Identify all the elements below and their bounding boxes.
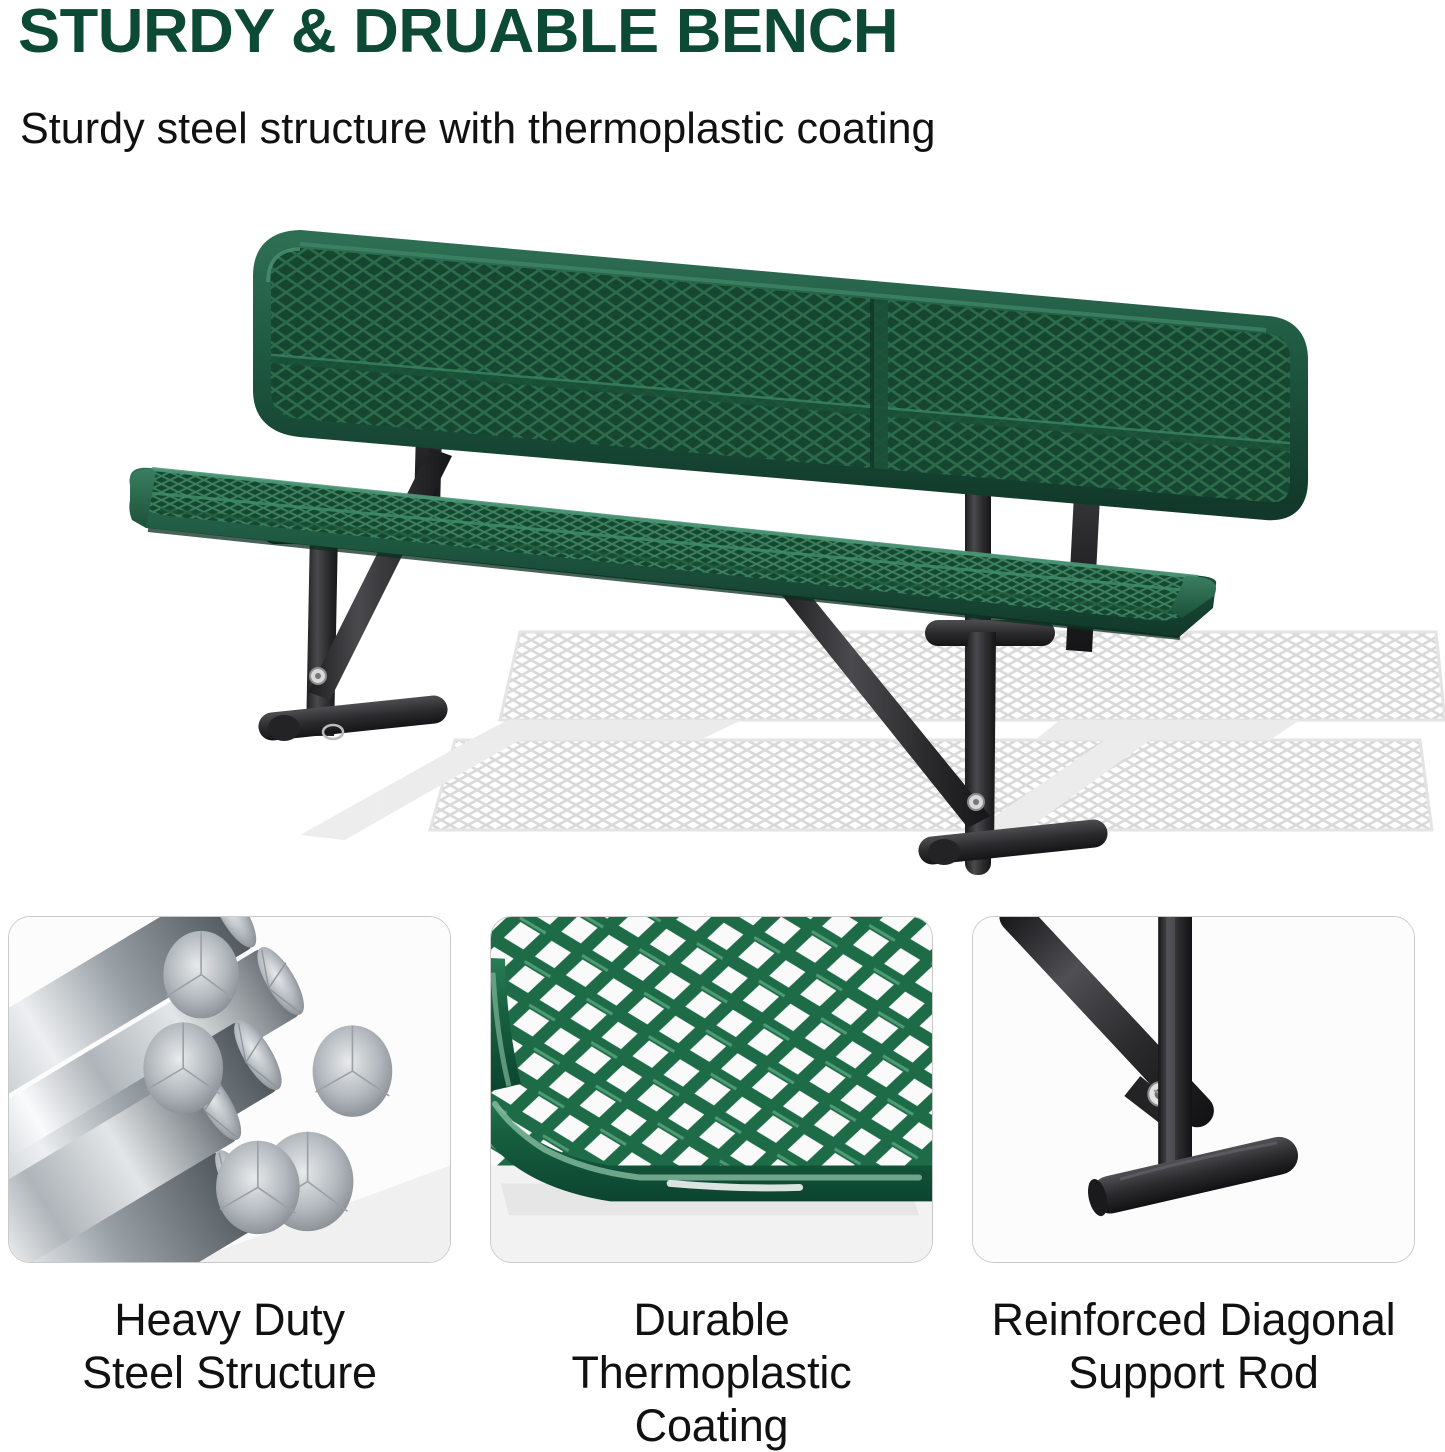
feature-image-support-rod [972, 916, 1415, 1263]
caption-line-2: Coating [490, 1399, 933, 1452]
header-block: STURDY & DRUABLE BENCH Sturdy steel stru… [0, 0, 1445, 180]
feature-card-diagonal-support-rod: Reinforced Diagonal Support Rod [972, 916, 1415, 1399]
feature-card-heavy-duty-steel: Heavy Duty Steel Structure [8, 916, 451, 1399]
feature-caption: Durable Thermoplastic Coating [490, 1293, 933, 1452]
caption-line-2: Steel Structure [8, 1346, 451, 1399]
bench-illustration [0, 180, 1445, 910]
bench-ground-shadow [300, 632, 1445, 842]
caption-line-1: Heavy Duty [8, 1293, 451, 1346]
feature-card-thermoplastic-coating: Durable Thermoplastic Coating [490, 916, 933, 1452]
feature-image-mesh-corner [490, 916, 933, 1263]
thermoplastic-mesh-icon [491, 917, 932, 1262]
feature-caption: Reinforced Diagonal Support Rod [972, 1293, 1415, 1399]
feature-caption: Heavy Duty Steel Structure [8, 1293, 451, 1399]
steel-bars-icon [9, 917, 450, 1262]
page-title: STURDY & DRUABLE BENCH [18, 0, 898, 67]
support-rod-icon [973, 917, 1414, 1262]
page-subtitle: Sturdy steel structure with thermoplasti… [20, 104, 936, 154]
hero-product-image [0, 180, 1445, 910]
feature-image-steel-bars [8, 916, 451, 1263]
caption-line-2: Support Rod [972, 1346, 1415, 1399]
caption-line-1: Reinforced Diagonal [972, 1293, 1415, 1346]
feature-panels: Heavy Duty Steel Structure [0, 916, 1445, 1404]
caption-line-1: Durable Thermoplastic [490, 1293, 933, 1399]
